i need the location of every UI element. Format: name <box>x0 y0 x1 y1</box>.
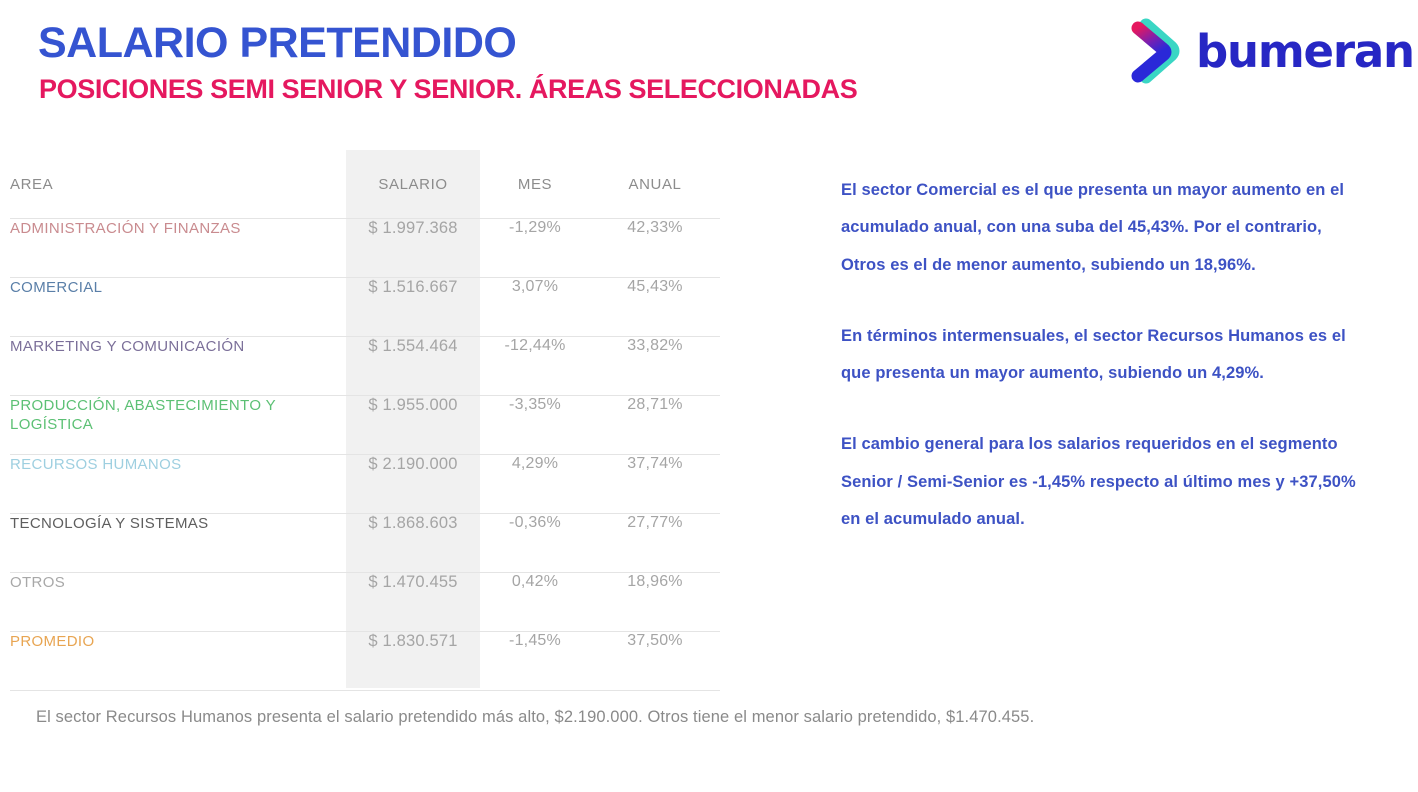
cell-anual: 37,50% <box>590 632 720 691</box>
page-subtitle: POSICIONES SEMI SENIOR Y SENIOR. ÁREAS S… <box>39 76 857 103</box>
cell-salario: $ 1.470.455 <box>346 573 480 632</box>
bumeran-logo: bumeran <box>1126 18 1414 84</box>
table-row: PROMEDIO$ 1.830.571-1,45%37,50% <box>10 632 720 691</box>
cell-anual: 18,96% <box>590 573 720 632</box>
cell-area: TECNOLOGÍA Y SISTEMAS <box>10 514 346 573</box>
table-header: AREA SALARIO MES ANUAL <box>10 150 720 219</box>
cell-anual: 45,43% <box>590 278 720 337</box>
commentary-paragraph: El sector Comercial es el que presenta u… <box>841 172 1361 284</box>
cell-area: COMERCIAL <box>10 278 346 337</box>
table-header-row: AREA SALARIO MES ANUAL <box>10 150 720 219</box>
salary-table-container: AREA SALARIO MES ANUAL ADMINISTRACIÓN Y … <box>10 150 720 691</box>
column-header-mes: MES <box>480 150 590 219</box>
cell-salario: $ 2.190.000 <box>346 455 480 514</box>
cell-salario: $ 1.554.464 <box>346 337 480 396</box>
column-header-anual: ANUAL <box>590 150 720 219</box>
cell-anual: 37,74% <box>590 455 720 514</box>
cell-area: PRODUCCIÓN, ABASTECIMIENTO Y LOGÍSTICA <box>10 396 346 455</box>
column-header-salario: SALARIO <box>346 150 480 219</box>
table-row: OTROS$ 1.470.4550,42%18,96% <box>10 573 720 632</box>
table-row: PRODUCCIÓN, ABASTECIMIENTO Y LOGÍSTICA$ … <box>10 396 720 455</box>
commentary-paragraph: En términos intermensuales, el sector Re… <box>841 318 1361 393</box>
cell-mes: -1,45% <box>480 632 590 691</box>
cell-area: OTROS <box>10 573 346 632</box>
footer-note: El sector Recursos Humanos presenta el s… <box>36 706 1376 729</box>
table-row: RECURSOS HUMANOS$ 2.190.0004,29%37,74% <box>10 455 720 514</box>
cell-mes: -12,44% <box>480 337 590 396</box>
cell-anual: 28,71% <box>590 396 720 455</box>
cell-mes: 4,29% <box>480 455 590 514</box>
table-row: COMERCIAL$ 1.516.6673,07%45,43% <box>10 278 720 337</box>
cell-anual: 27,77% <box>590 514 720 573</box>
table-row: ADMINISTRACIÓN Y FINANZAS$ 1.997.368-1,2… <box>10 219 720 278</box>
cell-mes: -3,35% <box>480 396 590 455</box>
boomerang-chevron-icon <box>1126 18 1188 84</box>
cell-area: PROMEDIO <box>10 632 346 691</box>
slide-root: SALARIO PRETENDIDO POSICIONES SEMI SENIO… <box>0 0 1418 792</box>
cell-salario: $ 1.830.571 <box>346 632 480 691</box>
cell-salario: $ 1.868.603 <box>346 514 480 573</box>
cell-area: ADMINISTRACIÓN Y FINANZAS <box>10 219 346 278</box>
table-row: MARKETING Y COMUNICACIÓN$ 1.554.464-12,4… <box>10 337 720 396</box>
cell-anual: 42,33% <box>590 219 720 278</box>
cell-mes: 3,07% <box>480 278 590 337</box>
logo-wordmark: bumeran <box>1196 29 1414 74</box>
table-body: ADMINISTRACIÓN Y FINANZAS$ 1.997.368-1,2… <box>10 219 720 691</box>
column-header-area: AREA <box>10 150 346 219</box>
commentary-paragraph: El cambio general para los salarios requ… <box>841 426 1361 538</box>
table-row: TECNOLOGÍA Y SISTEMAS$ 1.868.603-0,36%27… <box>10 514 720 573</box>
cell-salario: $ 1.955.000 <box>346 396 480 455</box>
cell-mes: -1,29% <box>480 219 590 278</box>
cell-salario: $ 1.516.667 <box>346 278 480 337</box>
cell-anual: 33,82% <box>590 337 720 396</box>
salary-table: AREA SALARIO MES ANUAL ADMINISTRACIÓN Y … <box>10 150 720 691</box>
cell-salario: $ 1.997.368 <box>346 219 480 278</box>
cell-mes: 0,42% <box>480 573 590 632</box>
cell-mes: -0,36% <box>480 514 590 573</box>
cell-area: RECURSOS HUMANOS <box>10 455 346 514</box>
cell-area: MARKETING Y COMUNICACIÓN <box>10 337 346 396</box>
commentary-panel: El sector Comercial es el que presenta u… <box>841 172 1361 538</box>
page-title: SALARIO PRETENDIDO <box>38 22 516 65</box>
